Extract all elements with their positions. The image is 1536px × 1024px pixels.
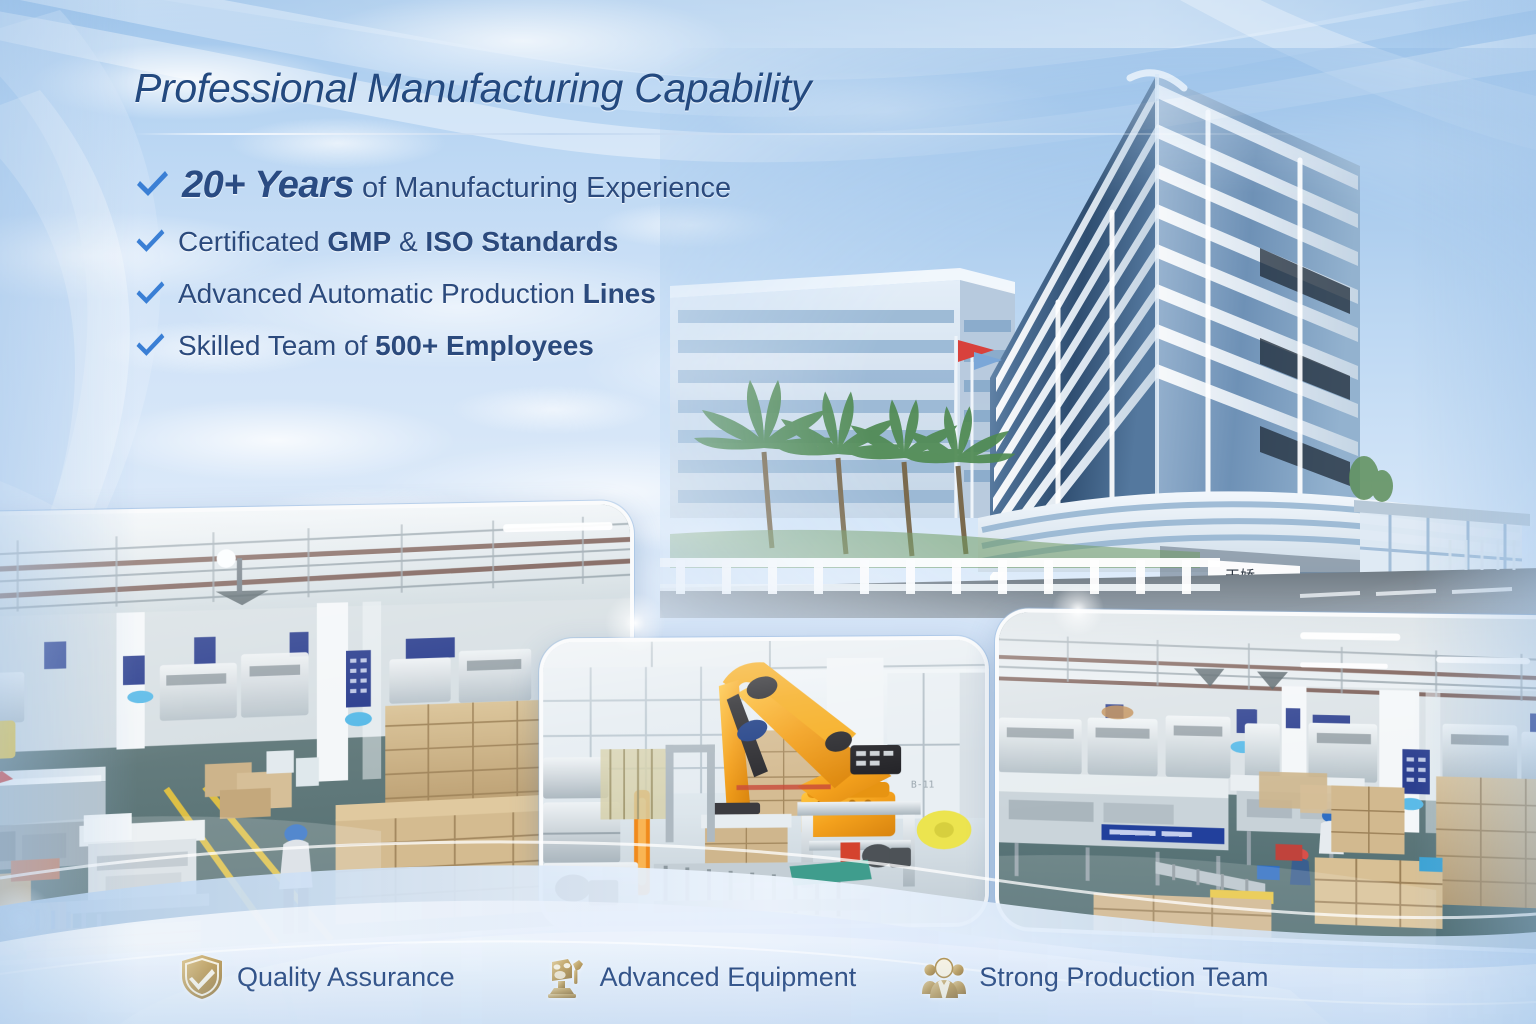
caption-label: Quality Assurance (237, 962, 455, 993)
list-item: Skilled Team of 500+ Employees (132, 320, 731, 371)
list-item-label: 20+ Years of Manufacturing Experience (182, 164, 731, 207)
robot-machine-icon (543, 954, 587, 1000)
list-item-label: Skilled Team of 500+ Employees (178, 330, 594, 362)
page-title: Professional Manufacturing Capability (134, 66, 894, 112)
caption-advanced-equipment: Advanced Equipment (543, 954, 857, 1000)
list-item-label: Certificated GMP & ISO Standards (178, 226, 618, 258)
feature-caption-row: Quality Assurance (0, 954, 1536, 1000)
checkmark-icon (132, 276, 168, 312)
lines-label: Lines (583, 278, 656, 309)
caption-strong-production-team: Strong Production Team (922, 954, 1268, 1000)
page-title-block: Professional Manufacturing Capability (134, 66, 894, 112)
years-rest: of Manufacturing Experience (354, 172, 731, 204)
caption-label: Advanced Equipment (600, 962, 857, 993)
people-group-icon (922, 954, 966, 1000)
checkmark-icon (132, 165, 172, 205)
iso-label: ISO (425, 226, 473, 257)
list-item: Advanced Automatic Production Lines (132, 268, 731, 319)
gmp-label: GMP (327, 226, 391, 257)
poster-canvas: 天娇 (0, 0, 1536, 1024)
svg-text:B-11: B-11 (911, 779, 935, 790)
lines-pre: Advanced Automatic Production (178, 278, 583, 309)
title-divider (134, 133, 1324, 135)
shield-check-icon (180, 954, 224, 1000)
production-workshop (995, 608, 1536, 955)
checkmark-icon (132, 224, 168, 260)
years-value: 20+ Years (182, 164, 354, 206)
cert-mid: & (391, 226, 425, 257)
robotic-palletizing-arm: B-11 (539, 636, 989, 932)
list-item: 20+ Years of Manufacturing Experience (132, 155, 731, 215)
cert-pre: Certificated (178, 226, 327, 257)
standards-label: Standards (474, 226, 619, 257)
checkmark-icon (132, 328, 168, 364)
employees-label: 500+ Employees (375, 330, 594, 361)
list-item-label: Advanced Automatic Production Lines (178, 278, 656, 310)
caption-quality-assurance: Quality Assurance (180, 954, 455, 1000)
list-item: Certificated GMP & ISO Standards (132, 216, 731, 267)
team-pre: Skilled Team of (178, 330, 375, 361)
caption-label: Strong Production Team (979, 962, 1268, 993)
feature-bullet-list: 20+ Years of Manufacturing Experience Ce… (132, 155, 731, 372)
